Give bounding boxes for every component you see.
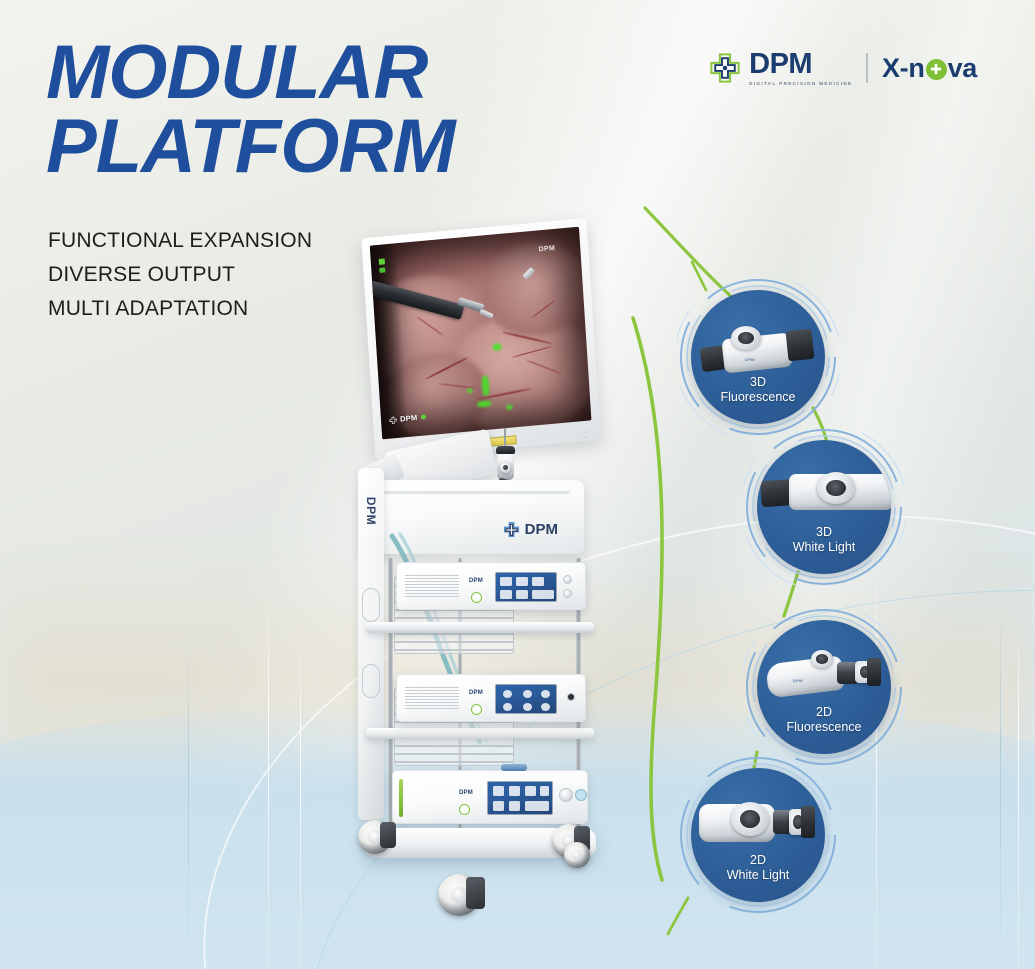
xnova-prefix: X-n [882,53,925,84]
badge-label: 3D Fluorescence [691,375,825,405]
feature-item: FUNCTIONAL EXPANSION [48,224,312,258]
cart-caster [564,842,590,868]
xnova-logo: X-n va [882,53,977,84]
module-gas-port[interactable] [559,788,573,802]
endoscopy-tower-cart: DPM DPM ⎯⎯⎯⎯⎯ [336,228,636,928]
module-top-tab [501,764,527,771]
badge-label: 2D White Light [691,853,825,883]
camera-head-3d-fluorescence-icon: DPM [701,324,819,376]
surgical-monitor: DPM DPM ⎯⎯⎯⎯⎯ [361,218,600,460]
cart-caster [358,820,392,854]
dpm-logo-text: DPM [749,50,852,79]
xnova-suffix: va [948,53,977,84]
headline-line-2: PLATFORM [46,110,455,184]
module-power-button[interactable] [471,592,482,603]
device-module[interactable]: DPM [396,674,586,722]
badge-label: 2D Fluorescence [757,705,891,735]
module-display[interactable] [495,572,557,602]
feature-item: MULTI ADAPTATION [48,292,312,326]
module-vent [405,687,459,711]
medical-cross-icon [708,51,742,85]
device-module[interactable]: DPM [392,770,588,824]
monitor-screen: DPM DPM [370,227,592,440]
xnova-cross-icon [926,59,947,80]
logo-divider [866,53,868,83]
monitor-bezel-text: ⎯⎯⎯⎯⎯ [582,430,588,439]
module-accent-stripe [399,779,403,817]
status-dot [420,414,425,419]
cart-column-brand: DPM [364,497,378,525]
medical-cross-icon [389,415,397,424]
device-module[interactable]: DPM [396,562,586,610]
headline-line-1: MODULAR [46,30,427,115]
module-filter-port[interactable] [575,789,587,801]
dpm-logo: DPM DIGITAL PRECISION MEDICINE [708,50,852,86]
badge-2d-white-light[interactable]: 2D White Light [691,768,825,902]
module-brand: DPM [469,578,483,584]
module-display[interactable] [487,781,553,815]
badge-3d-fluorescence[interactable]: DPM 3D Fluorescence [691,290,825,424]
camera-head-2d-fluorescence-icon: DPM [767,648,887,704]
module-vent [405,575,459,599]
module-display[interactable] [495,684,557,714]
module-brand: DPM [469,690,483,696]
module-power-button[interactable] [459,804,470,815]
badge-2d-fluorescence[interactable]: DPM 2D Fluorescence [757,620,891,754]
monitor-watermark-top: DPM [538,244,555,252]
module-port[interactable] [563,589,572,598]
module-brand: DPM [459,790,473,796]
camera-head-3d-white-light-icon [761,470,891,524]
module-port[interactable] [567,693,575,701]
module-power-button[interactable] [471,704,482,715]
badge-label: 3D White Light [757,525,891,555]
cart-shelf [366,622,594,633]
fluorescence-marker [506,404,512,410]
badge-3d-white-light[interactable]: 3D White Light [757,440,891,574]
cart-shelf [366,728,594,739]
page-title: MODULAR PLATFORM [46,36,455,185]
module-port[interactable] [563,575,572,584]
poster-canvas: DPM DIGITAL PRECISION MEDICINE X-n va MO… [0,0,1035,969]
fluorescence-marker [492,343,501,351]
feature-list: FUNCTIONAL EXPANSION DIVERSE OUTPUT MULT… [48,224,312,326]
brand-logo-bar: DPM DIGITAL PRECISION MEDICINE X-n va [708,50,977,86]
cart-caster [438,874,480,916]
feature-item: DIVERSE OUTPUT [48,258,312,292]
dpm-tagline: DIGITAL PRECISION MEDICINE [749,81,852,86]
camera-head-2d-white-light-icon [699,798,821,850]
